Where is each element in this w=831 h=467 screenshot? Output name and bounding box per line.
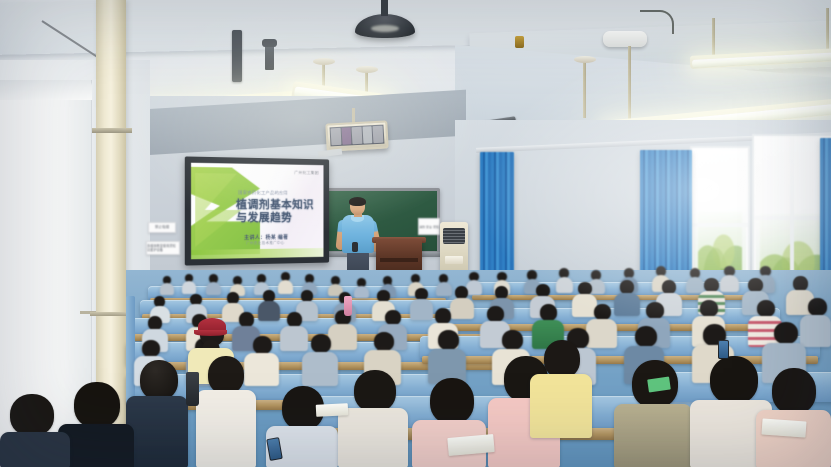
slide-title-line-2: 与发展趋势 bbox=[236, 211, 320, 224]
slide-title-line-1: 植调剂基本知识 bbox=[236, 199, 320, 212]
wifi-access-point-icon bbox=[603, 31, 647, 47]
light-hanger-rod bbox=[583, 62, 586, 118]
pipe-support-bracket bbox=[232, 30, 242, 82]
audience-member bbox=[278, 272, 293, 293]
slide-logo: 广州化工集团 bbox=[294, 170, 319, 176]
light-rod-cap bbox=[574, 56, 596, 63]
pipe-valve-icon bbox=[265, 44, 274, 70]
audience-member bbox=[614, 280, 640, 315]
audience-member-foreground bbox=[338, 370, 408, 467]
curtain[interactable] bbox=[820, 138, 831, 288]
light-rod-cap bbox=[356, 66, 378, 73]
audience-member bbox=[206, 274, 221, 294]
wall-sign-no-smoking: 禁止吸烟 bbox=[148, 222, 176, 233]
sprinkler-head-icon bbox=[515, 36, 524, 48]
audience-member-yellow-blouse bbox=[530, 340, 592, 436]
audience-member bbox=[354, 278, 369, 297]
notebook[interactable] bbox=[316, 403, 349, 417]
audience-member bbox=[302, 334, 338, 384]
projector-icon bbox=[330, 125, 385, 147]
audience-member-foreground bbox=[0, 394, 70, 467]
air-conditioner-panel[interactable] bbox=[445, 256, 463, 264]
air-conditioner-vent-icon bbox=[443, 228, 465, 244]
water-bottle[interactable] bbox=[344, 296, 352, 316]
audience-member bbox=[258, 290, 280, 320]
notebook[interactable] bbox=[761, 418, 806, 437]
slide-subtitle: 国家农药化工产品的应用 bbox=[238, 190, 319, 196]
audience-member bbox=[182, 274, 196, 293]
lecture-hall-photo: 广州化工集团 国家农药化工产品的应用 植调剂基本知识 与发展趋势 主讲人：杨某 … bbox=[0, 0, 831, 467]
left-wall-panel-top bbox=[0, 80, 92, 100]
slide-title: 植调剂基本知识 与发展趋势 bbox=[236, 199, 320, 224]
audience-member bbox=[428, 330, 466, 383]
light-rod-cap bbox=[313, 58, 335, 65]
slide-organization: 广州农业技术推广中心 bbox=[246, 241, 284, 246]
wall-sign-equipment-notice: 多媒体教室使用须知 请爱护设备 bbox=[146, 241, 180, 255]
audience-member-foreground bbox=[196, 356, 256, 467]
water-bottle[interactable] bbox=[186, 372, 199, 406]
microphone-icon bbox=[352, 242, 358, 252]
projection-screen[interactable]: 广州化工集团 国家农药化工产品的应用 植调剂基本知识 与发展趋势 主讲人：杨某 … bbox=[191, 163, 323, 260]
light-hanger-rod bbox=[628, 46, 631, 122]
podium-shelf bbox=[380, 258, 418, 262]
audience-member-khaki bbox=[614, 360, 692, 467]
smartphone-icon[interactable] bbox=[718, 340, 729, 359]
audience-member-foreground bbox=[126, 360, 188, 467]
audience-member-foreground bbox=[756, 368, 831, 467]
pillar-clamp bbox=[92, 128, 132, 133]
cable bbox=[640, 10, 674, 34]
window-mullion bbox=[692, 223, 748, 227]
wall-sign-fire-safety: 消防 安全 须知 bbox=[418, 218, 440, 235]
audience-member bbox=[556, 268, 573, 292]
instructor-hair bbox=[349, 197, 366, 206]
audience-member bbox=[160, 276, 174, 294]
